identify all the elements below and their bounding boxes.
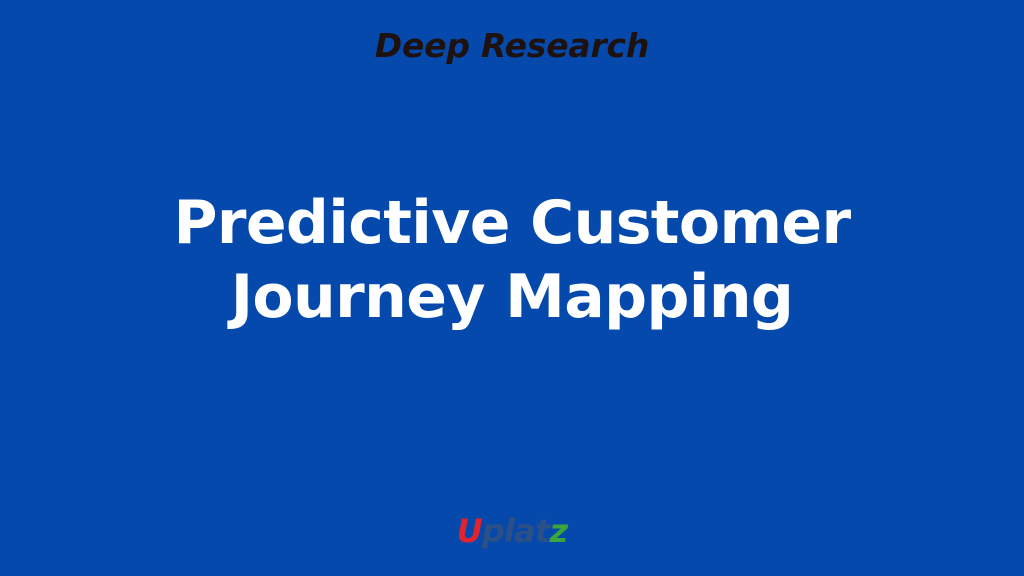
uplatz-logo-u: U — [457, 512, 482, 550]
slide-title-line-2: Journey Mapping — [0, 260, 1024, 334]
slide-eyebrow-label: Deep Research — [0, 26, 1024, 66]
uplatz-logo-plat: plat — [482, 512, 550, 550]
slide-footer: Uplatz — [0, 512, 1024, 550]
uplatz-logo: Uplatz — [457, 512, 568, 550]
slide-title-line-1: Predictive Customer — [0, 186, 1024, 260]
slide-canvas: Deep Research Predictive Customer Journe… — [0, 0, 1024, 576]
uplatz-logo-z: z — [549, 512, 567, 550]
slide-title: Predictive Customer Journey Mapping — [0, 186, 1024, 334]
